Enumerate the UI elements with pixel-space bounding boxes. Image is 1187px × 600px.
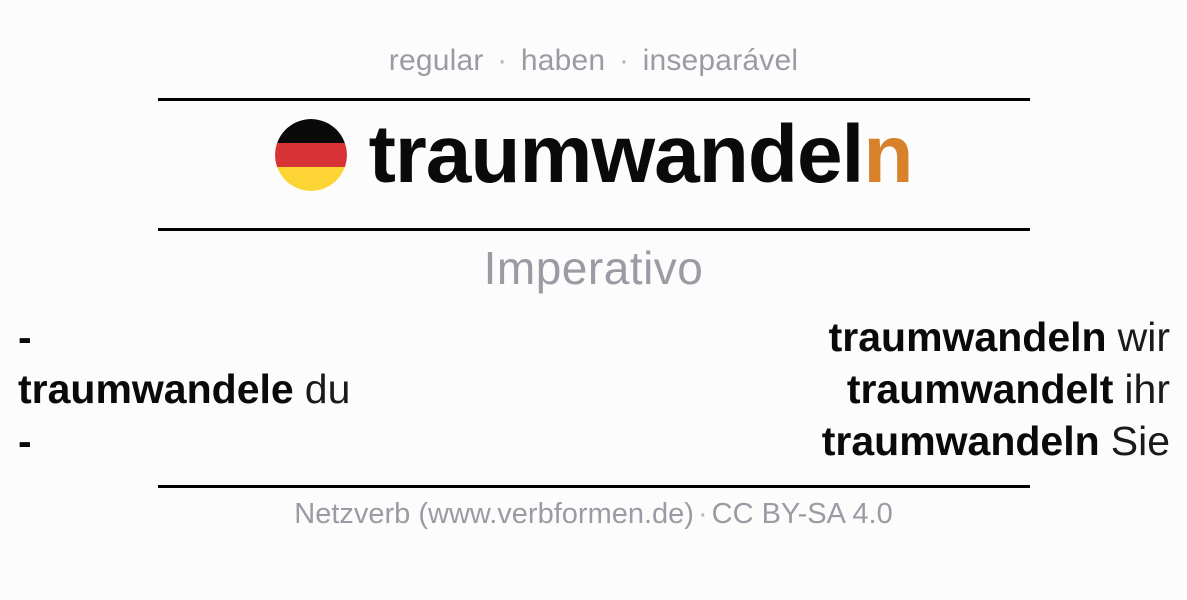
verb-attribute-separability: inseparável xyxy=(643,44,799,77)
empty-form-dash: - xyxy=(18,317,32,358)
empty-form-dash: - xyxy=(18,421,32,462)
form-ending: t xyxy=(1100,369,1114,410)
tense-title: Imperativo xyxy=(484,245,704,291)
footer-source: Netzverb (www.verbformen.de) xyxy=(294,498,694,530)
meta-separator: · xyxy=(614,44,634,77)
verb-attributes: regular · haben · inseparável xyxy=(389,46,798,76)
headword-stem: traumwandel xyxy=(369,109,864,200)
footer-attribution: Netzverb (www.verbformen.de)·CC BY-SA 4.… xyxy=(294,500,892,529)
page-title: traumwandeln xyxy=(369,114,913,196)
meta-separator: · xyxy=(492,44,512,77)
form-stem: traumwandel xyxy=(822,421,1075,462)
conjugation-row: - xyxy=(0,415,580,467)
form-ending: n xyxy=(1082,317,1107,358)
conjugation-row: traumwandelnwir xyxy=(620,311,1187,363)
conjugation-row: traumwandeledu xyxy=(0,363,580,415)
german-flag-circle-icon xyxy=(275,119,347,191)
form-stem: traumwandel xyxy=(829,317,1082,358)
conjugation-row: - xyxy=(0,311,580,363)
form-pronoun: Sie xyxy=(1111,421,1170,462)
conjugation-row: traumwandelnSie xyxy=(620,415,1187,467)
form-ending: n xyxy=(1075,421,1100,462)
headword-ending: n xyxy=(863,109,912,200)
conjugation-table: - traumwandelnwir traumwandeledu traumwa… xyxy=(0,311,1187,467)
conjugation-row: traumwandeltihr xyxy=(620,363,1187,415)
form-stem: traumwandel xyxy=(18,369,271,410)
footer-license: CC BY-SA 4.0 xyxy=(712,498,893,530)
verb-attribute-auxiliary: haben xyxy=(521,44,605,77)
form-ending: e xyxy=(271,369,294,410)
form-stem: traumwandel xyxy=(847,369,1100,410)
divider-bottom xyxy=(158,485,1030,488)
divider-middle xyxy=(158,228,1030,231)
form-pronoun: ihr xyxy=(1124,369,1170,410)
headword-row: traumwandeln xyxy=(158,101,1030,209)
verb-conjugation-sheet: regular · haben · inseparável traumwande… xyxy=(0,0,1187,600)
form-pronoun: wir xyxy=(1118,317,1170,358)
form-pronoun: du xyxy=(305,369,351,410)
verb-attribute-regularity: regular xyxy=(389,44,484,77)
footer-separator: · xyxy=(694,498,712,530)
